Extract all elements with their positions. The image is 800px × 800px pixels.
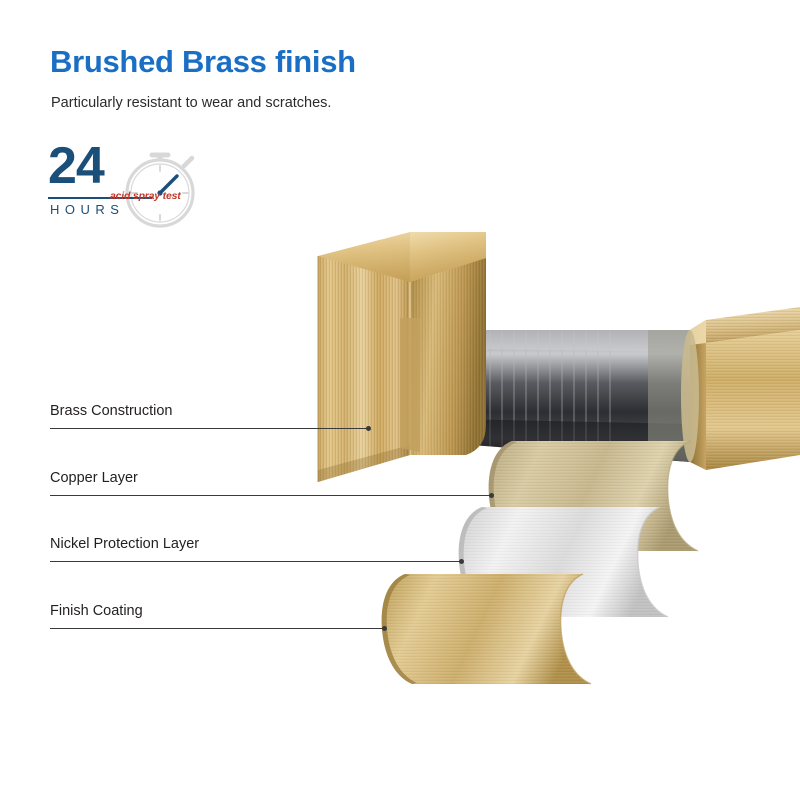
- callout-endpoint-dot: [489, 493, 494, 498]
- towel-bar: [690, 307, 800, 470]
- callout-endpoint-dot: [459, 559, 464, 564]
- wall-mount-plate: [318, 232, 486, 482]
- callout-label: Copper Layer: [50, 470, 138, 486]
- finish-coating-shell: [382, 574, 591, 684]
- exploded-brass-fixture-diagram: [0, 0, 800, 800]
- callout-label: Finish Coating: [50, 603, 143, 619]
- callout-leader-line: [50, 428, 370, 429]
- callout-leader-line: [50, 495, 493, 496]
- callout-leader-line: [50, 628, 386, 629]
- callout-leader-line: [50, 561, 463, 562]
- diagram-canvas: Brushed Brass finish Particularly resist…: [0, 0, 800, 800]
- callout-label: Nickel Protection Layer: [50, 536, 199, 552]
- callout-endpoint-dot: [382, 626, 387, 631]
- callout-label: Brass Construction: [50, 403, 173, 419]
- callout-endpoint-dot: [366, 426, 371, 431]
